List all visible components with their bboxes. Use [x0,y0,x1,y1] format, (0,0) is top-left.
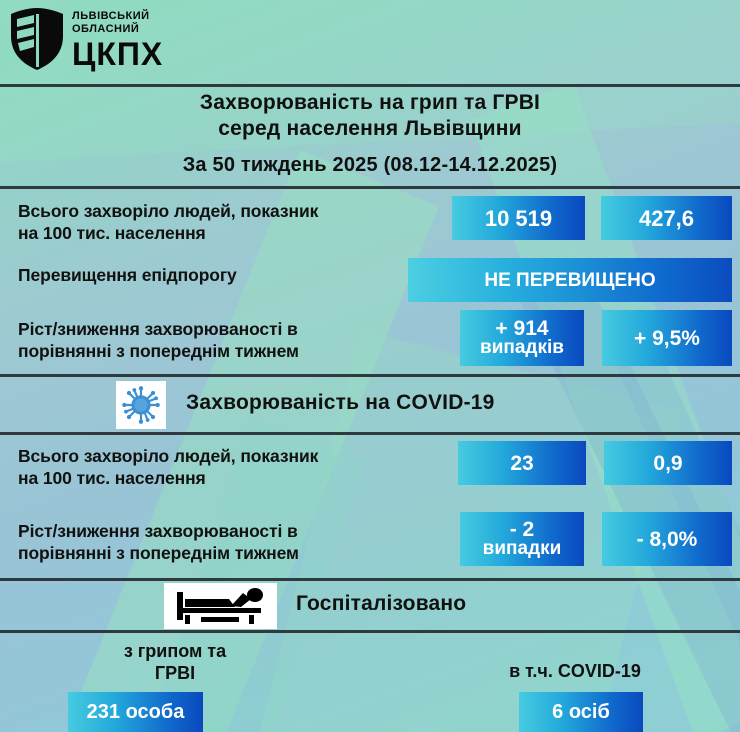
label-line-1: в т.ч. COVID-19 [430,660,720,682]
flu-epidemic-threshold-row: Перевищення епідпорогу НЕ ПЕРЕВИЩЕНО [0,258,740,302]
label-line-1: Всього захворіло людей, показник [18,200,448,222]
covid-total-cases-value: 23 [458,441,586,485]
value-line-2: випадків [480,338,564,357]
covid-change-row: Ріст/зниження захворюваності в порівнянн… [0,512,740,572]
header: ЛЬВІВСЬКИЙ ОБЛАСНИЙ ЦКПХ [0,0,740,86]
logo-line-1: ЛЬВІВСЬКИЙ [72,10,163,23]
title-line-2: серед населення Львівщини [0,116,740,142]
logo-abbreviation: ЦКПХ [72,37,163,71]
flu-total-cases-value: 10 519 [452,196,585,240]
label-line-1: Перевищення епідпорогу [18,264,438,286]
label-line-2: на 100 тис. населення [18,467,448,489]
flu-incidence-rate-value: 427,6 [601,196,732,240]
covid-total-cases-label: Всього захворіло людей, показник на 100 … [18,445,448,489]
hospitalization-covid-value: 6 осіб [519,692,643,732]
flu-change-label: Ріст/зниження захворюваності в порівнянн… [18,318,458,362]
value-line-1: - 2 [510,520,535,539]
divider-hospitalization-top [0,578,740,581]
covid-section-title: Захворюваність на COVID-19 [186,391,495,415]
divider-hospitalization-bottom [0,630,740,633]
hospitalization-flu-label: з грипом та ГРВІ [60,640,290,684]
hospital-bed-icon [171,586,271,626]
hospitalization-title: Госпіталізовано [296,592,466,616]
hospitalization-values-row: з грипом та ГРВІ 231 особа в т.ч. COVID-… [0,636,740,732]
label-line-2: порівнянні з попереднім тижнем [18,542,458,564]
flu-total-cases-label: Всього захворіло людей, показник на 100 … [18,200,448,244]
covid-change-percent-value: - 8,0% [602,512,732,566]
page-title: Захворюваність на грип та ГРВІ серед нас… [0,90,740,177]
infographic-canvas: ЛЬВІВСЬКИЙ ОБЛАСНИЙ ЦКПХ Захворюваність … [0,0,740,732]
covid-change-label: Ріст/зниження захворюваності в порівнянн… [18,520,458,564]
flu-change-percent-value: + 9,5% [602,310,732,366]
hospitalization-covid-label: в т.ч. COVID-19 [430,660,720,682]
value-line-2: випадки [483,539,562,558]
label-line-2: на 100 тис. населення [18,222,448,244]
hospitalization-flu-value: 231 особа [68,692,203,732]
covid-total-cases-row: Всього захворіло людей, показник на 100 … [0,441,740,499]
shield-logo-icon [8,6,66,72]
label-line-2: порівнянні з попереднім тижнем [18,340,458,362]
report-period: За 50 тиждень 2025 (08.12-14.12.2025) [0,154,740,177]
hospital-bed-icon-box [164,583,277,629]
flu-change-row: Ріст/зниження захворюваності в порівнянн… [0,310,740,370]
label-line-1: Ріст/зниження захворюваності в [18,318,458,340]
label-line-1: з грипом та [60,640,290,662]
flu-epidemic-threshold-label: Перевищення епідпорогу [18,264,438,286]
label-line-2: ГРВІ [60,662,290,684]
title-line-1: Захворюваність на грип та ГРВІ [0,90,740,116]
coronavirus-icon-box [116,381,166,429]
flu-epidemic-threshold-status: НЕ ПЕРЕВИЩЕНО [408,258,732,302]
covid-change-cases-value: - 2 випадки [460,512,584,566]
value-line-1: + 914 [495,319,548,338]
logo-line-2: ОБЛАСНИЙ [72,23,163,36]
divider-flu-covid [0,374,740,377]
divider-covid-start [0,432,740,435]
label-line-1: Всього захворіло людей, показник [18,445,448,467]
flu-change-cases-value: + 914 випадків [460,310,584,366]
covid-incidence-rate-value: 0,9 [604,441,732,485]
label-line-1: Ріст/зниження захворюваності в [18,520,458,542]
flu-total-cases-row: Всього захворіло людей, показник на 100 … [0,196,740,254]
covid-section-header: Захворюваність на COVID-19 [0,379,740,431]
divider-header [0,84,740,87]
hospitalization-header: Госпіталізовано [0,582,740,630]
coronavirus-icon [121,385,161,425]
organization-logo: ЛЬВІВСЬКИЙ ОБЛАСНИЙ ЦКПХ [8,6,163,72]
divider-title [0,186,740,189]
